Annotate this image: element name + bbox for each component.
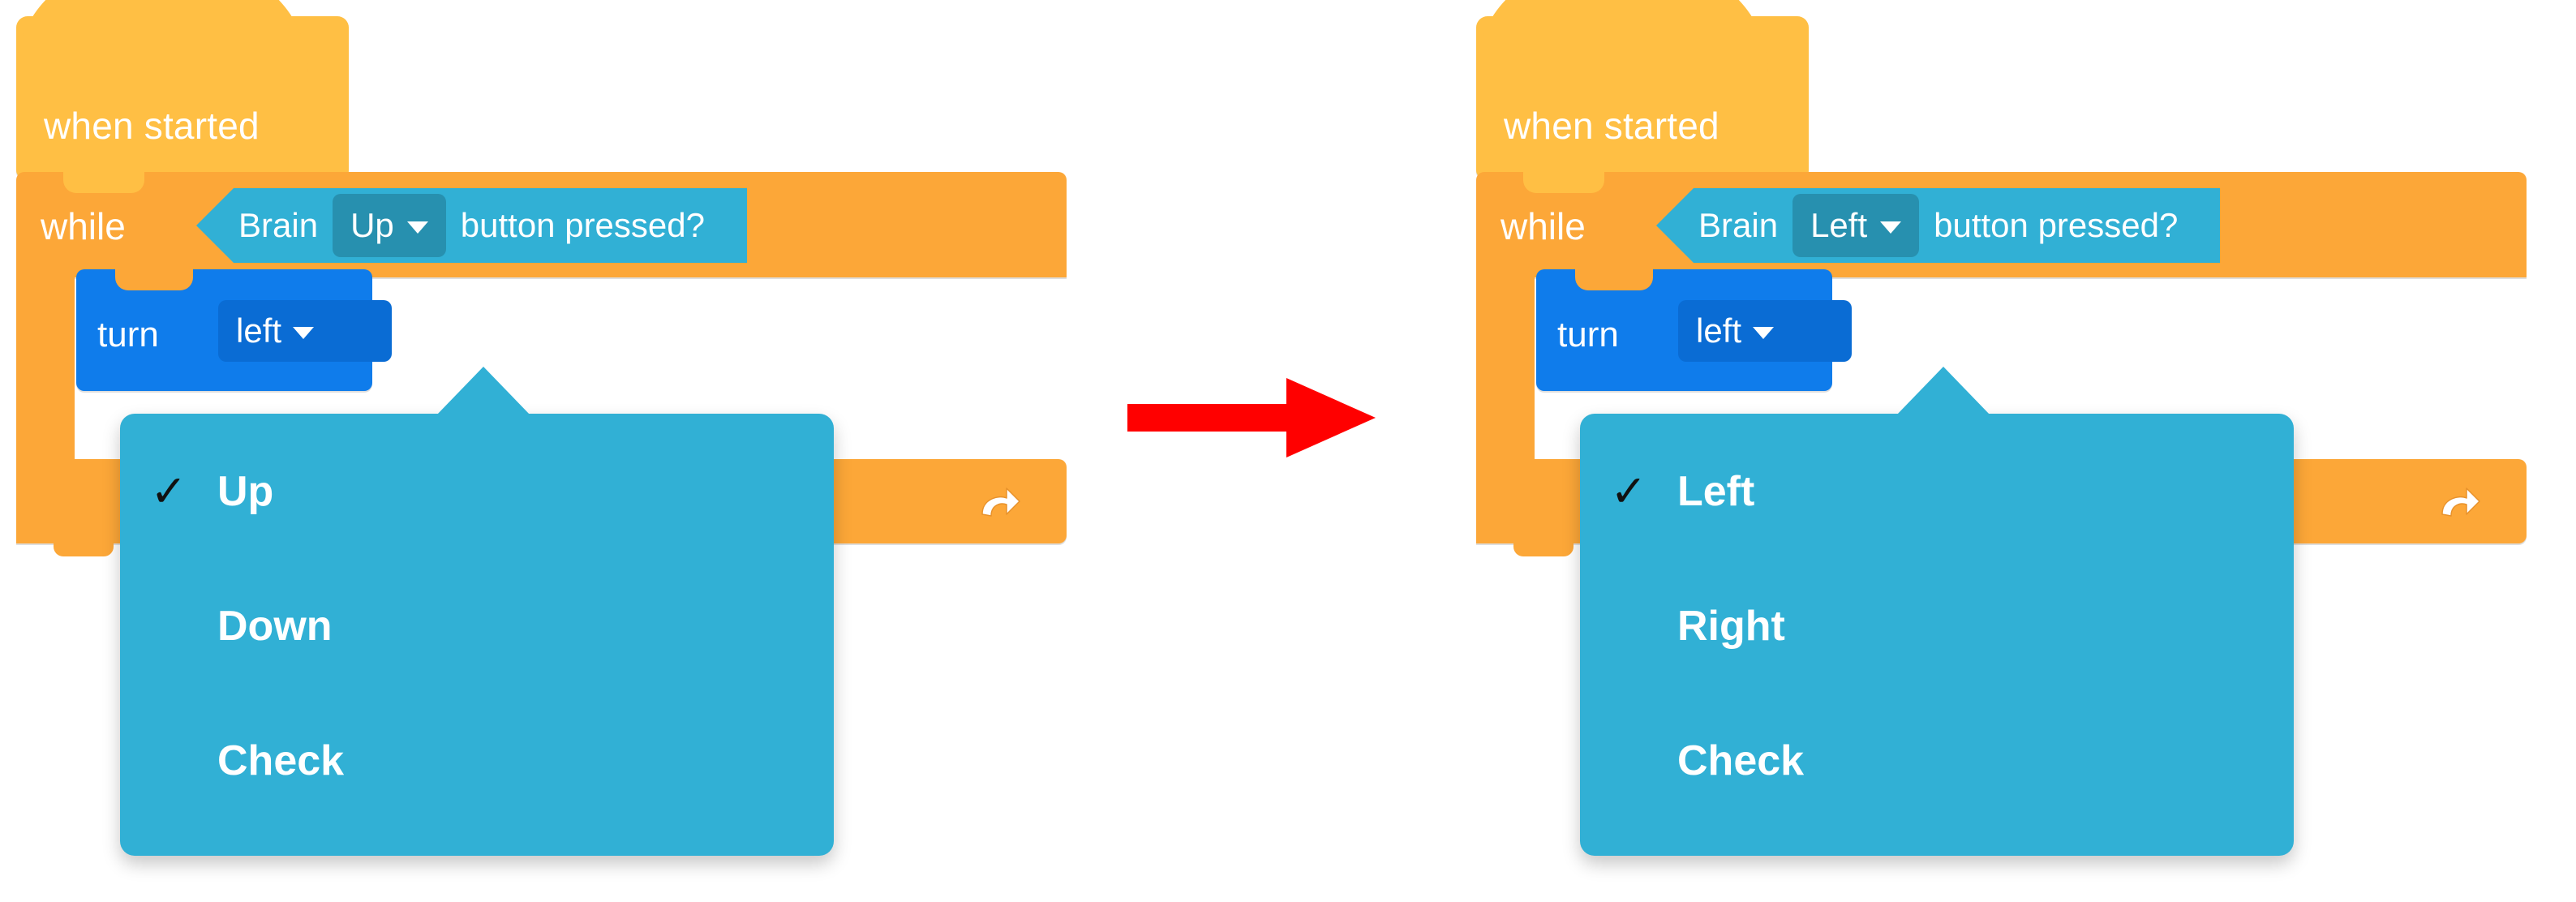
brain-button-dropdown-value: Up [350,206,394,245]
condition-prefix-label: Brain [1698,206,1778,245]
loop-arrow-icon [972,477,1021,526]
while-loop-left-arm [16,276,75,461]
condition-suffix-label: button pressed? [461,206,705,245]
dropdown-menu-tail [436,367,530,415]
menu-item-label: Up [217,467,273,516]
block-notch [115,269,193,290]
chevron-down-icon [407,221,428,234]
boolean-condition-block[interactable]: Brain Left button pressed? [1656,188,2220,263]
menu-item[interactable]: Right [1580,578,2294,675]
while-loop-left-arm [1476,276,1535,461]
turn-block[interactable]: turn left [1536,269,1832,391]
hat-block-when-started[interactable]: when started [1476,16,1809,178]
program-panel-before: when started while Brain Up button press… [0,0,1087,902]
hat-block-label: when started [44,104,260,148]
transition-arrow-right-icon [1127,373,1379,462]
boolean-condition-block[interactable]: Brain Up button pressed? [196,188,747,263]
menu-item-label: Right [1677,602,1785,651]
menu-item-label: Check [217,737,344,785]
brain-button-dropdown[interactable]: Up [333,194,446,257]
turn-direction-dropdown-value: left [236,311,281,350]
menu-item-label: Down [217,602,333,651]
chevron-down-icon [293,327,314,339]
dropdown-menu-popup[interactable]: ✓ Left Right Check [1580,414,2294,856]
menu-item[interactable]: Check [1580,712,2294,810]
menu-item[interactable]: Check [120,712,834,810]
menu-item[interactable]: Down [120,578,834,675]
menu-item-label: Left [1677,467,1754,516]
turn-block-label: turn [97,315,159,355]
while-label: while [1501,204,1586,248]
hat-block-when-started[interactable]: when started [16,16,349,178]
hat-block-label: when started [1504,104,1719,148]
turn-direction-dropdown[interactable]: left [218,300,392,362]
menu-item[interactable]: ✓ Left [1580,443,2294,540]
block-editor-canvas: when started while Brain Up button press… [0,0,2576,902]
block-notch [63,172,144,193]
menu-item-label: Check [1677,737,1804,785]
program-panel-after: when started while Brain Left button pre… [1460,0,2547,902]
check-icon: ✓ [1580,470,1677,513]
block-notch [1575,269,1653,290]
while-loop-header[interactable]: while Brain Left button pressed? [1476,172,2527,277]
turn-block-label: turn [1557,315,1619,355]
condition-suffix-label: button pressed? [1934,206,2178,245]
brain-button-dropdown[interactable]: Left [1792,194,1919,257]
turn-block[interactable]: turn left [76,269,372,391]
turn-direction-dropdown[interactable]: left [1678,300,1852,362]
turn-direction-dropdown-value: left [1696,311,1741,350]
check-icon: ✓ [120,470,217,513]
menu-item[interactable]: ✓ Up [120,443,834,540]
loop-arrow-icon [2432,477,2481,526]
chevron-down-icon [1753,327,1774,339]
dropdown-menu-popup[interactable]: ✓ Up Down Check [120,414,834,856]
while-label: while [41,204,126,248]
brain-button-dropdown-value: Left [1810,206,1867,245]
condition-prefix-label: Brain [238,206,318,245]
chevron-down-icon [1880,221,1901,234]
block-notch [1523,172,1604,193]
dropdown-menu-tail [1896,367,1990,415]
while-loop-header[interactable]: while Brain Up button pressed? [16,172,1067,277]
